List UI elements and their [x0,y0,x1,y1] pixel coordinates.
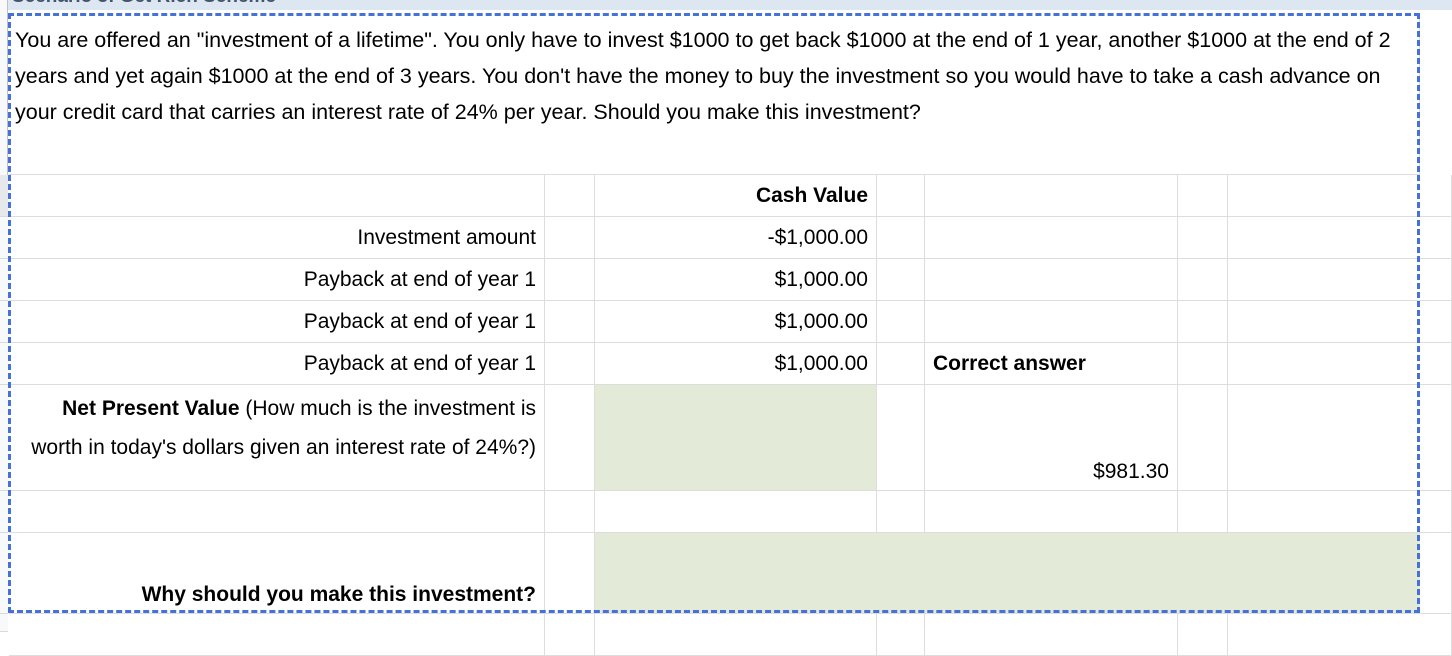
cell-b-row3[interactable] [545,301,595,343]
cell-f-blank[interactable] [1178,491,1228,533]
cell-f-row2[interactable] [1178,259,1228,301]
cell-g-row4[interactable] [1228,343,1452,385]
cell-g-blank[interactable] [1228,491,1452,533]
row-label[interactable]: Investment amount [9,217,545,259]
cell-d-header[interactable] [877,175,925,217]
row-cash-value[interactable]: $1,000.00 [595,259,877,301]
cell-f-npv[interactable] [1178,385,1228,491]
row-header-cell[interactable] [0,217,8,259]
row-label[interactable]: Payback at end of year 1 [9,343,545,385]
cell-d-blank[interactable] [877,491,925,533]
why-answer-input[interactable] [595,533,1420,614]
cell-f-header[interactable] [1178,175,1228,217]
sheet-title-band: Scenario 3: Get Rich Scheme [0,0,1452,10]
cell-d-row1[interactable] [877,217,925,259]
cell-f-row4[interactable] [1178,343,1228,385]
cell-g-question[interactable] [1420,533,1452,614]
row-cash-value[interactable]: $1,000.00 [595,301,877,343]
cell-b-row4[interactable] [545,343,595,385]
cell-g-npv[interactable] [1228,385,1452,491]
row-header-cell[interactable] [0,533,8,614]
cell-c-blank[interactable] [595,491,877,533]
cell-d-npv[interactable] [877,385,925,491]
row-cash-value[interactable]: -$1,000.00 [595,217,877,259]
cell-b-row2[interactable] [545,259,595,301]
cell-e-overflow[interactable] [925,614,1178,656]
cell-g-header[interactable] [1228,175,1452,217]
cell-b-question[interactable] [545,533,595,614]
cell-b-header[interactable] [545,175,595,217]
correct-answer-label[interactable]: Correct answer [925,343,1178,385]
cell-g-overflow[interactable] [1228,614,1452,656]
row-header-cell[interactable] [0,491,8,533]
cell-d-overflow[interactable] [877,614,925,656]
npv-question-label[interactable]: Net Present Value (How much is the inves… [9,385,545,491]
cell-b-npv[interactable] [545,385,595,491]
why-question-label[interactable]: Why should you make this investment? [9,533,545,614]
npv-input-cell[interactable] [595,385,877,491]
row-header-cell[interactable] [0,259,8,301]
header-cash-value[interactable]: Cash Value [595,175,877,217]
npv-correct-answer[interactable]: $981.30 [925,385,1178,491]
sheet-title: Scenario 3: Get Rich Scheme [12,0,276,9]
cell-b-blank[interactable] [545,491,595,533]
cell-g-row1[interactable] [1228,217,1452,259]
row-header-cell[interactable] [0,614,8,632]
row-header-cell[interactable] [0,343,8,385]
row-label[interactable]: Payback at end of year 1 [9,301,545,343]
cell-d-row4[interactable] [877,343,925,385]
cell-a-overflow[interactable] [9,614,545,656]
cell-e-header[interactable] [925,175,1178,217]
cell-b-row1[interactable] [545,217,595,259]
row-header-cell[interactable] [0,301,8,343]
blank-row-label[interactable] [9,491,545,533]
cell-d-row3[interactable] [877,301,925,343]
cell-c-overflow[interactable] [595,614,877,656]
cell-f-overflow[interactable] [1178,614,1228,656]
row-header-cell[interactable] [0,175,8,217]
cell-e-row3[interactable] [925,301,1178,343]
cell-f-row1[interactable] [1178,217,1228,259]
cell-e-blank[interactable] [925,491,1178,533]
cell-e-row2[interactable] [925,259,1178,301]
spreadsheet-canvas: Scenario 3: Get Rich Scheme You are offe… [0,0,1452,632]
cell-g-row3[interactable] [1228,301,1452,343]
row-cash-value[interactable]: $1,000.00 [595,343,877,385]
row-label[interactable]: Payback at end of year 1 [9,259,545,301]
npv-label-bold: Net Present Value [62,397,239,420]
cell-a-header[interactable] [9,175,545,217]
cell-e-row1[interactable] [925,217,1178,259]
row-header-cell[interactable] [0,385,8,491]
cell-b-overflow[interactable] [545,614,595,656]
cell-f-row3[interactable] [1178,301,1228,343]
cell-g-row2[interactable] [1228,259,1452,301]
scenario-prompt-cell[interactable]: You are offered an "investment of a life… [9,14,1420,175]
cell-d-row2[interactable] [877,259,925,301]
